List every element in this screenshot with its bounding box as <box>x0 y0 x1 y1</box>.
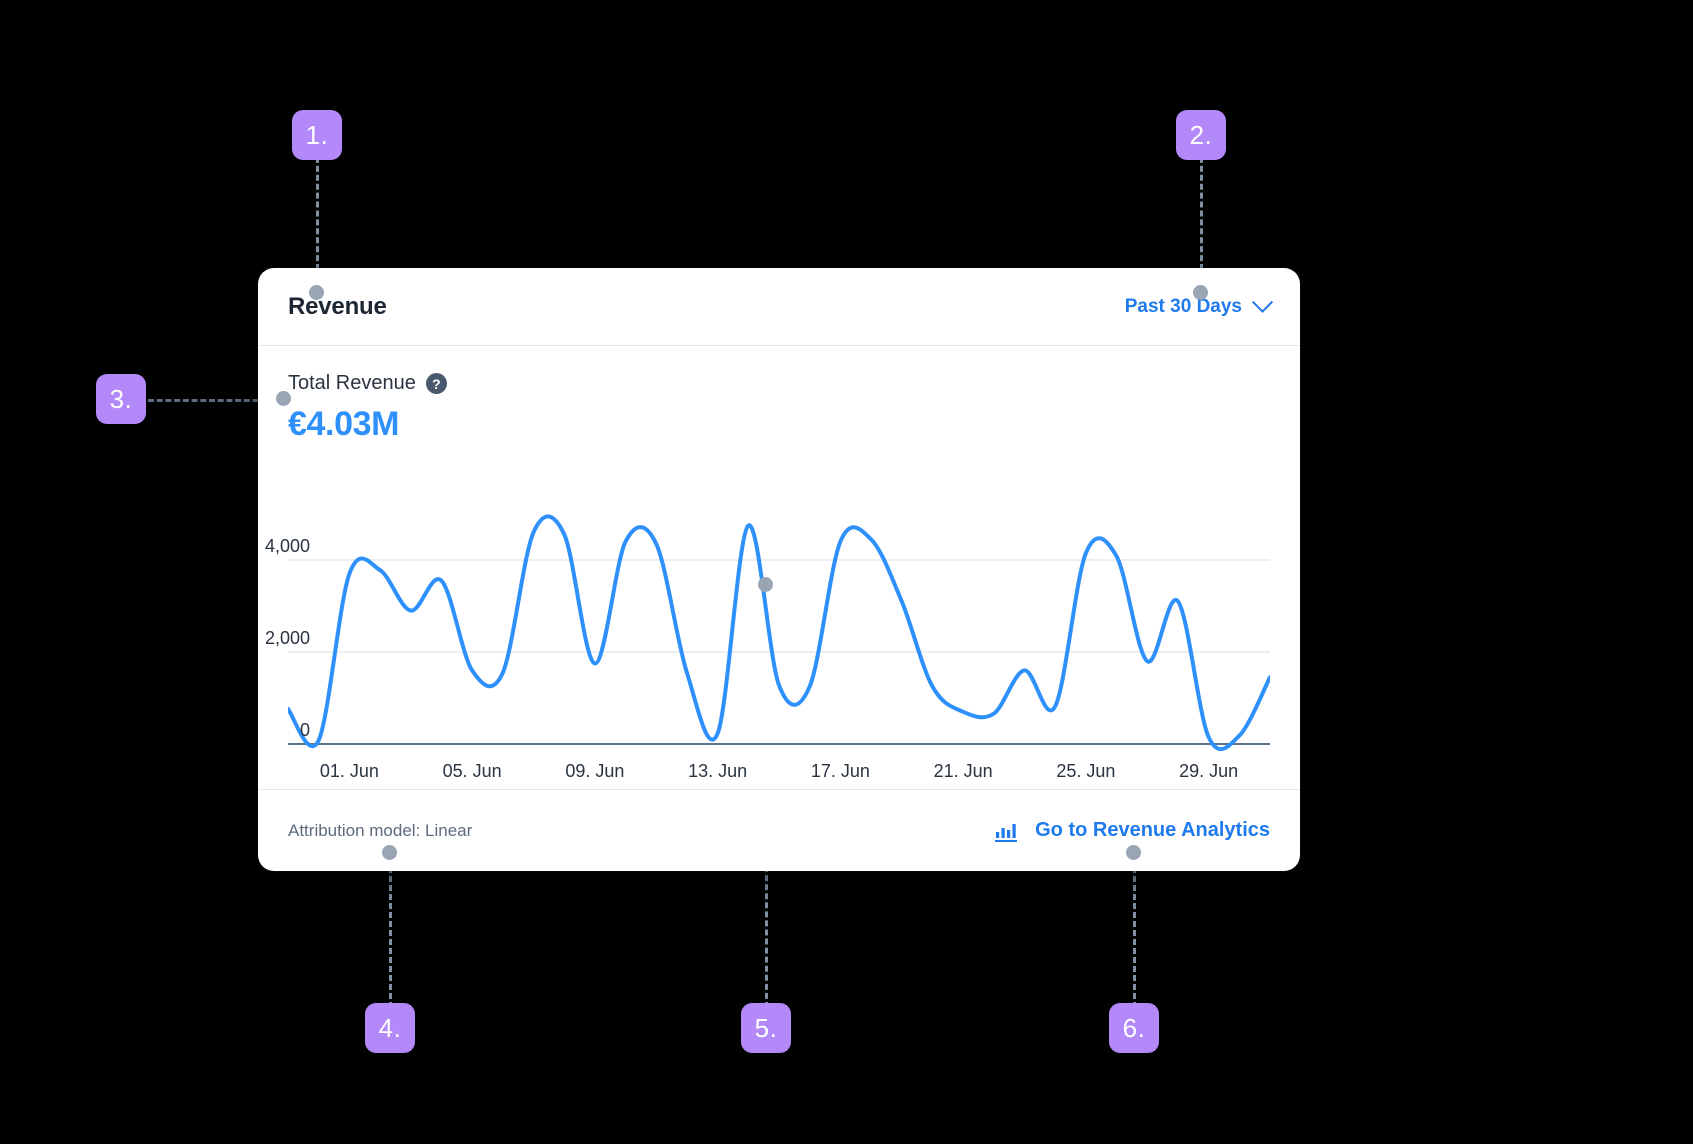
chart-gridlines <box>288 560 1270 744</box>
callout-badge-5[interactable]: 5. <box>741 1003 791 1053</box>
callout-4-connector <box>389 858 392 1008</box>
bar-chart-icon-svg <box>995 820 1019 842</box>
callout-anchor-dot-1 <box>309 285 324 300</box>
page-title: Revenue <box>288 293 387 321</box>
x-tick-label: 29. Jun <box>1147 761 1270 791</box>
card-body: Total Revenue ? €4.03M 02,0004,000 01. J… <box>258 346 1300 766</box>
callout-anchor-dot-4 <box>382 845 397 860</box>
x-tick-label: 17. Jun <box>779 761 902 791</box>
svg-text:0: 0 <box>300 720 310 740</box>
callout-badge-4[interactable]: 4. <box>365 1003 415 1053</box>
x-tick-label: 09. Jun <box>534 761 657 791</box>
card-footer: Attribution model: Linear Go to Revenue … <box>258 789 1300 871</box>
callout-badge-1[interactable]: 1. <box>292 110 342 160</box>
callout-badge-2[interactable]: 2. <box>1176 110 1226 160</box>
chevron-down-icon <box>1252 292 1273 313</box>
callout-anchor-dot-3 <box>276 391 291 406</box>
chart-svg <box>288 506 1270 756</box>
callout-2-connector <box>1200 148 1203 270</box>
x-tick-label: 25. Jun <box>1025 761 1148 791</box>
callout-anchor-dot-6 <box>1126 845 1141 860</box>
chart-series-line <box>288 516 1270 749</box>
help-icon[interactable]: ? <box>426 373 447 394</box>
x-tick-label: 21. Jun <box>902 761 1025 791</box>
callout-badge-3[interactable]: 3. <box>96 374 146 424</box>
metric-value: €4.03M <box>288 405 1270 444</box>
callout-3-connector <box>148 399 276 402</box>
callout-anchor-dot-5 <box>758 577 773 592</box>
bar-chart-icon <box>995 820 1019 842</box>
x-tick-label: 05. Jun <box>411 761 534 791</box>
date-range-label: Past 30 Days <box>1125 296 1242 318</box>
chart-x-axis-labels: 01. Jun05. Jun09. Jun13. Jun17. Jun21. J… <box>288 761 1270 791</box>
go-to-revenue-analytics-label: Go to Revenue Analytics <box>1035 819 1270 842</box>
callout-1-connector <box>316 148 319 270</box>
go-to-revenue-analytics-link[interactable]: Go to Revenue Analytics <box>995 819 1270 842</box>
metric-label-row: Total Revenue ? <box>288 372 1270 395</box>
callout-6-connector <box>1133 858 1136 1008</box>
attribution-model-text: Attribution model: Linear <box>288 821 472 841</box>
x-tick-label: 13. Jun <box>656 761 779 791</box>
revenue-line-chart[interactable]: 02,0004,000 <box>288 506 1270 756</box>
callout-anchor-dot-2 <box>1193 285 1208 300</box>
svg-text:4,000: 4,000 <box>265 536 310 556</box>
revenue-card: Revenue Past 30 Days Total Revenue ? €4.… <box>258 268 1300 871</box>
x-tick-label: 01. Jun <box>288 761 411 791</box>
svg-text:2,000: 2,000 <box>265 628 310 648</box>
metric-label: Total Revenue <box>288 372 416 395</box>
card-header: Revenue Past 30 Days <box>258 268 1300 346</box>
callout-badge-6[interactable]: 6. <box>1109 1003 1159 1053</box>
chart-y-labels: 02,0004,000 <box>258 506 318 756</box>
